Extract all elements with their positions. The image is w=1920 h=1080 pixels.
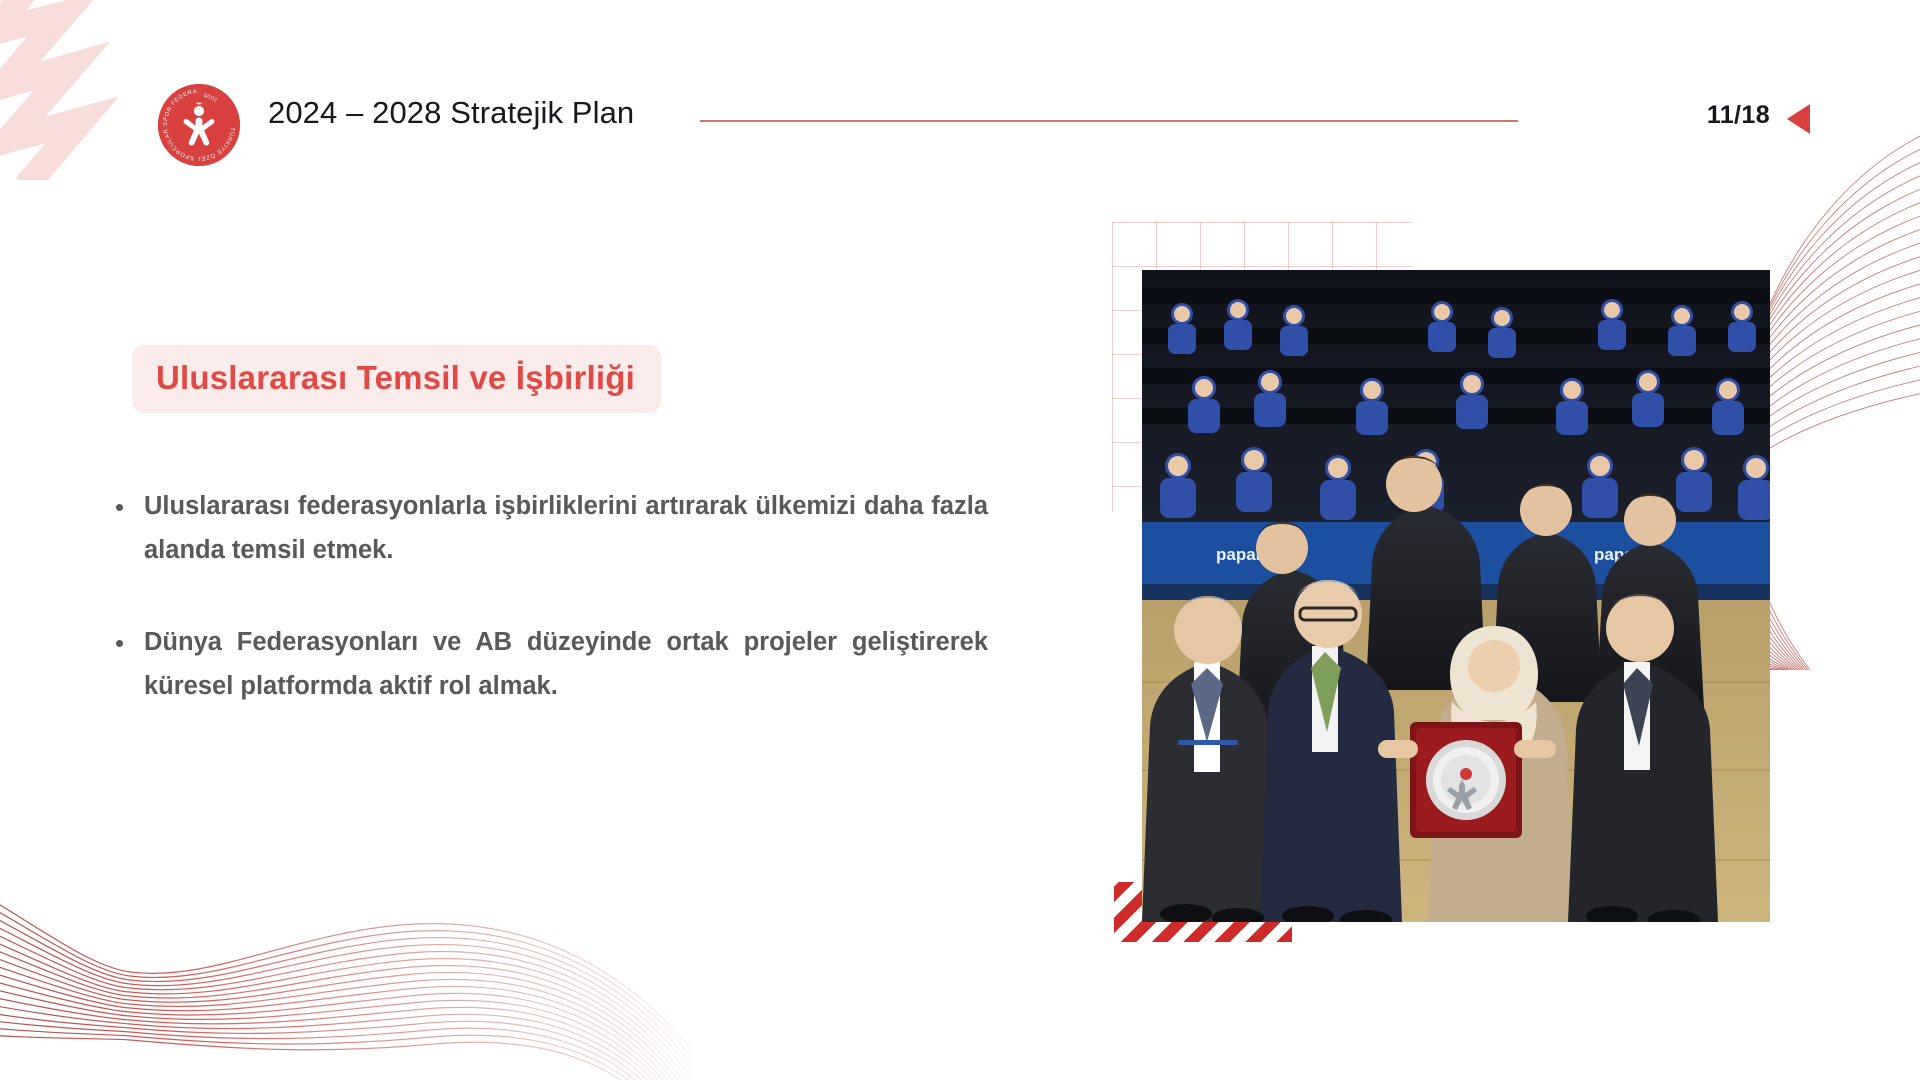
header-divider bbox=[700, 120, 1518, 122]
slide-header: TÜRKİYE ÖZEL SPORCULAR SPOR FEDERASYONU … bbox=[0, 0, 1920, 200]
slide-root: TÜRKİYE ÖZEL SPORCULAR SPOR FEDERASYONU … bbox=[0, 0, 1920, 1080]
bullet-list: Uluslararası federasyonlarla işbirlikler… bbox=[108, 485, 988, 708]
section-title-badge: Uluslararası Temsil ve İşbirliği bbox=[132, 345, 661, 413]
triangle-left-icon[interactable] bbox=[1787, 104, 1810, 134]
page-number: 11/18 bbox=[1707, 101, 1770, 130]
federation-logo[interactable]: TÜRKİYE ÖZEL SPORCULAR SPOR FEDERASYONU … bbox=[158, 84, 240, 166]
media-block: papara papara papara bbox=[1112, 222, 1792, 942]
award-ceremony-photo: papara papara papara bbox=[1142, 270, 1770, 922]
page-title: 2024 – 2028 Stratejik Plan bbox=[268, 95, 634, 131]
flowing-wave-decoration-bottom-left bbox=[0, 710, 690, 1080]
list-item: Uluslararası federasyonlarla işbirlikler… bbox=[108, 485, 988, 573]
list-item: Dünya Federasyonları ve AB düzeyinde ort… bbox=[108, 621, 988, 709]
